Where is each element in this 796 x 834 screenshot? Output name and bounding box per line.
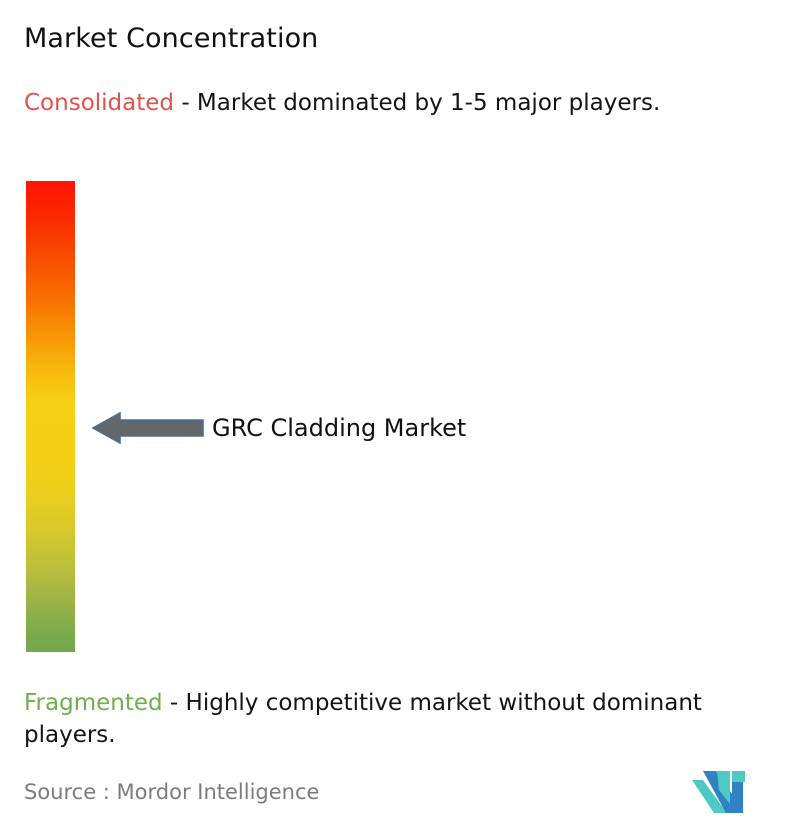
market-callout: GRC Cladding Market xyxy=(92,408,562,448)
market-concentration-chart: Market Concentration Consolidated - Mark… xyxy=(0,0,796,834)
legend-term-consolidated: Consolidated xyxy=(24,90,174,116)
legend-fragmented: Fragmented - Highly competitive market w… xyxy=(24,687,784,751)
mordor-intelligence-logo xyxy=(691,770,765,814)
callout-label: GRC Cladding Market xyxy=(212,410,466,446)
legend-term-fragmented: Fragmented xyxy=(24,690,163,716)
legend-description-consolidated: - Market dominated by 1-5 major players. xyxy=(174,90,660,116)
arrow-left-icon xyxy=(92,408,204,448)
legend-consolidated: Consolidated - Market dominated by 1-5 m… xyxy=(24,87,784,119)
source-label: Source : Mordor Intelligence xyxy=(24,778,319,806)
concentration-scale-bar xyxy=(26,181,75,652)
page-title: Market Concentration xyxy=(24,22,318,56)
